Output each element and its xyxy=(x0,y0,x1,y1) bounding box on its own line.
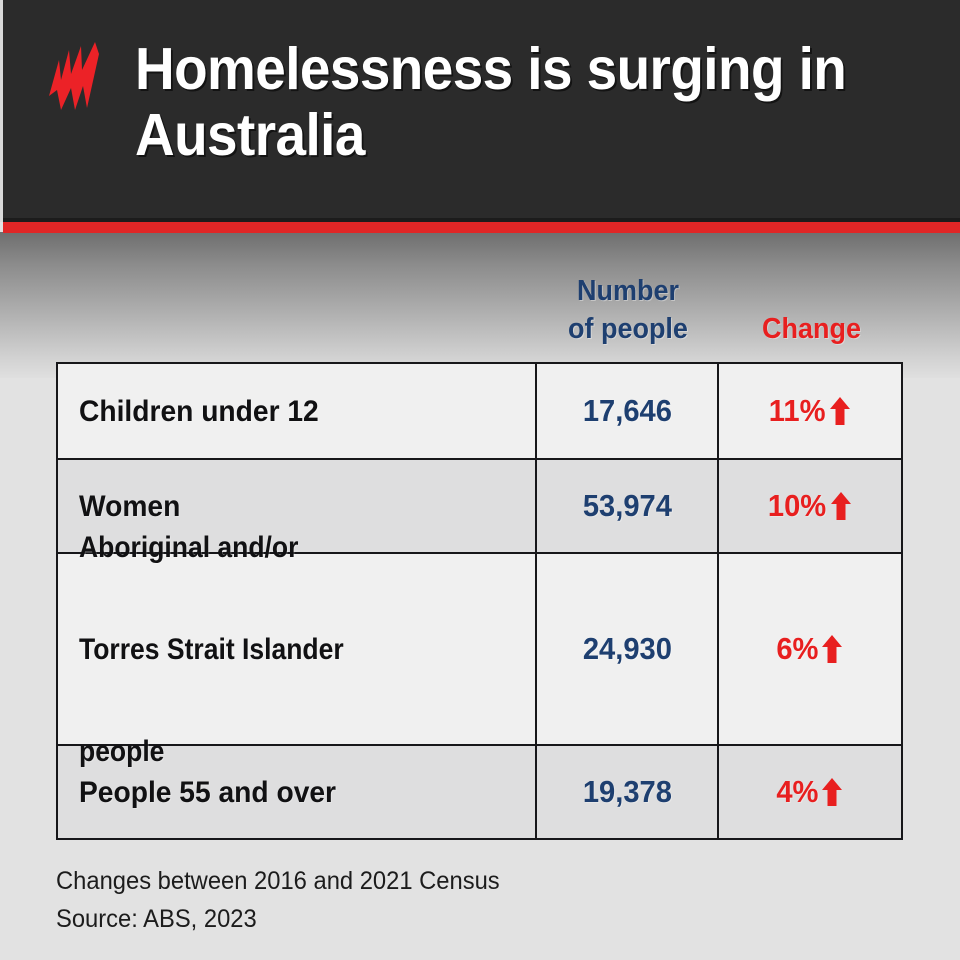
row-number-text: 24,930 xyxy=(582,631,671,667)
row-change-text: 11% xyxy=(769,393,826,429)
row-label-cell: Children under 12 xyxy=(58,364,537,458)
left-edge-strip xyxy=(0,0,3,222)
page-title: Homelessness is surging in Australia xyxy=(135,36,870,168)
column-header-change: Change xyxy=(726,310,896,348)
arrow-up-icon xyxy=(830,491,852,522)
row-change-text: 10% xyxy=(768,488,826,524)
number-header-line-2: of people xyxy=(542,310,713,348)
row-change-cell: 4% xyxy=(719,746,899,838)
sbs-flame-logo-icon xyxy=(43,40,105,112)
row-label-line-2: Torres Strait Islander xyxy=(79,624,344,675)
row-label-text: People 55 and over xyxy=(79,767,336,818)
row-number-cell: 19,378 xyxy=(537,746,719,838)
arrow-up-icon xyxy=(829,396,851,427)
row-label-text: Children under 12 xyxy=(79,386,319,437)
row-change-text: 4% xyxy=(776,774,818,810)
homelessness-table: Children under 12 17,646 11% Women 53,97… xyxy=(56,362,903,840)
red-accent-bar xyxy=(3,222,960,233)
row-number-text: 53,974 xyxy=(582,488,671,524)
column-header-number-of-people: Number of people xyxy=(542,272,713,348)
row-change-cell: 11% xyxy=(719,364,899,458)
row-change-cell: 10% xyxy=(719,460,899,552)
row-change-cell: 6% xyxy=(719,554,899,744)
table-row: Aboriginal and/or Torres Strait Islander… xyxy=(58,554,901,746)
footnote-census-period: Changes between 2016 and 2021 Census xyxy=(56,862,816,900)
row-number-text: 19,378 xyxy=(582,774,671,810)
number-header-line-1: Number xyxy=(542,272,713,310)
row-number-text: 17,646 xyxy=(582,393,671,429)
row-label-cell: Aboriginal and/or Torres Strait Islander… xyxy=(58,554,537,744)
column-headers: Number of people Change xyxy=(0,272,960,354)
row-label-text: Aboriginal and/or Torres Strait Islander… xyxy=(79,522,361,777)
header-banner: Homelessness is surging in Australia xyxy=(3,0,960,222)
row-number-cell: 24,930 xyxy=(537,554,719,744)
footnote-source: Source: ABS, 2023 xyxy=(56,900,816,938)
arrow-up-icon xyxy=(821,777,843,808)
infographic-root: Homelessness is surging in Australia Num… xyxy=(0,0,960,960)
footnotes: Changes between 2016 and 2021 Census Sou… xyxy=(56,862,856,938)
arrow-up-icon xyxy=(821,634,843,665)
row-change-text: 6% xyxy=(776,631,818,667)
row-number-cell: 53,974 xyxy=(537,460,719,552)
row-label-line-1: Aboriginal and/or xyxy=(79,522,344,573)
table-row: Children under 12 17,646 11% xyxy=(58,364,901,460)
row-number-cell: 17,646 xyxy=(537,364,719,458)
